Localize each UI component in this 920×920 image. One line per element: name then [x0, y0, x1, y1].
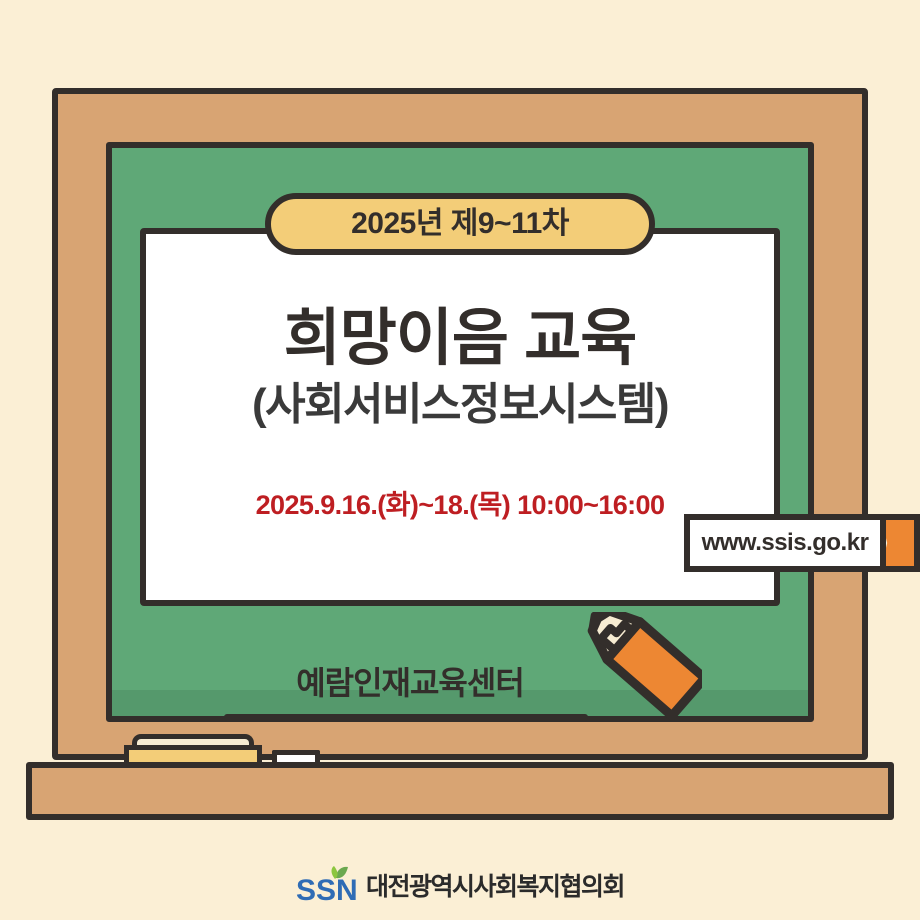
footer-organization: 대전광역시사회복지협의회	[366, 867, 624, 903]
ssn-logo-icon: SSN	[296, 866, 358, 904]
pencil-icon	[566, 612, 702, 730]
venue-underline	[224, 714, 588, 721]
session-badge: 2025년 제9~11차	[265, 193, 655, 255]
poster-canvas: 2025년 제9~11차 희망이음 교육 (사회서비스정보시스템) 2025.9…	[0, 0, 920, 920]
url-label: www.ssis.go.kr	[702, 529, 869, 557]
url-ribbon-plate[interactable]: www.ssis.go.kr	[684, 514, 886, 572]
chalk-tray	[26, 762, 894, 820]
url-ribbon[interactable]: www.ssis.go.kr	[684, 514, 920, 572]
page-subtitle: (사회서비스정보시스템)	[252, 381, 668, 429]
footer: SSN 대전광역시사회복지협의회	[0, 866, 920, 904]
schedule-text: 2025.9.16.(화)~18.(목) 10:00~16:00	[256, 483, 665, 522]
page-title: 희망이음 교육	[284, 306, 636, 371]
session-badge-label: 2025년 제9~11차	[351, 209, 569, 239]
url-ribbon-tail	[880, 514, 920, 572]
ssn-logo-text: SSN	[296, 874, 358, 904]
